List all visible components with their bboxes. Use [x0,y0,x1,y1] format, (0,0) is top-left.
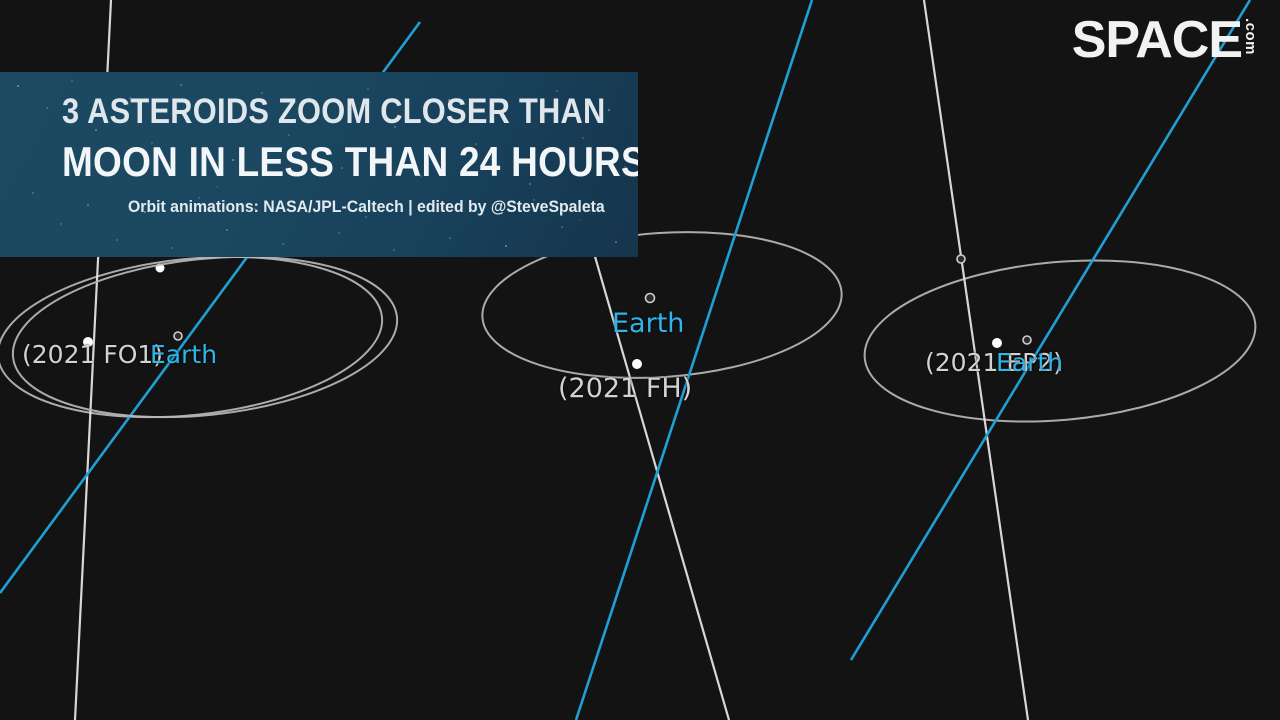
earth-label-left: Earth [150,340,217,369]
asteroid-label-left: (2021 FO1) [22,340,163,369]
orbit-marker [633,360,642,369]
space-com-logo[interactable]: SPACE .com [1072,14,1258,66]
credit-line: Orbit animations: NASA/JPL-Caltech | edi… [128,197,578,217]
asteroid-marker-right [993,339,1002,348]
earth-marker-center [646,294,655,303]
orbit-marker [957,255,965,263]
title-banner: 3 ASTEROIDS ZOOM CLOSER THAN MOON IN LES… [0,72,638,257]
logo-wordmark: SPACE [1072,14,1242,66]
headline-line-1: 3 ASTEROIDS ZOOM CLOSER THAN [62,94,546,129]
headline-line-2: MOON IN LESS THAN 24 HOURS [62,141,546,183]
earth-label-center: Earth [612,308,684,339]
earth-label-right: Earth [996,348,1063,377]
screenshot-root: .ellipse-orbit { fill: none; stroke: #b9… [0,0,1280,720]
asteroid-label-center: (2021 FH) [558,373,692,404]
earth-marker-left [174,332,182,340]
earth-marker-right [1023,336,1031,344]
logo-dotcom-suffix: .com [1243,18,1258,55]
